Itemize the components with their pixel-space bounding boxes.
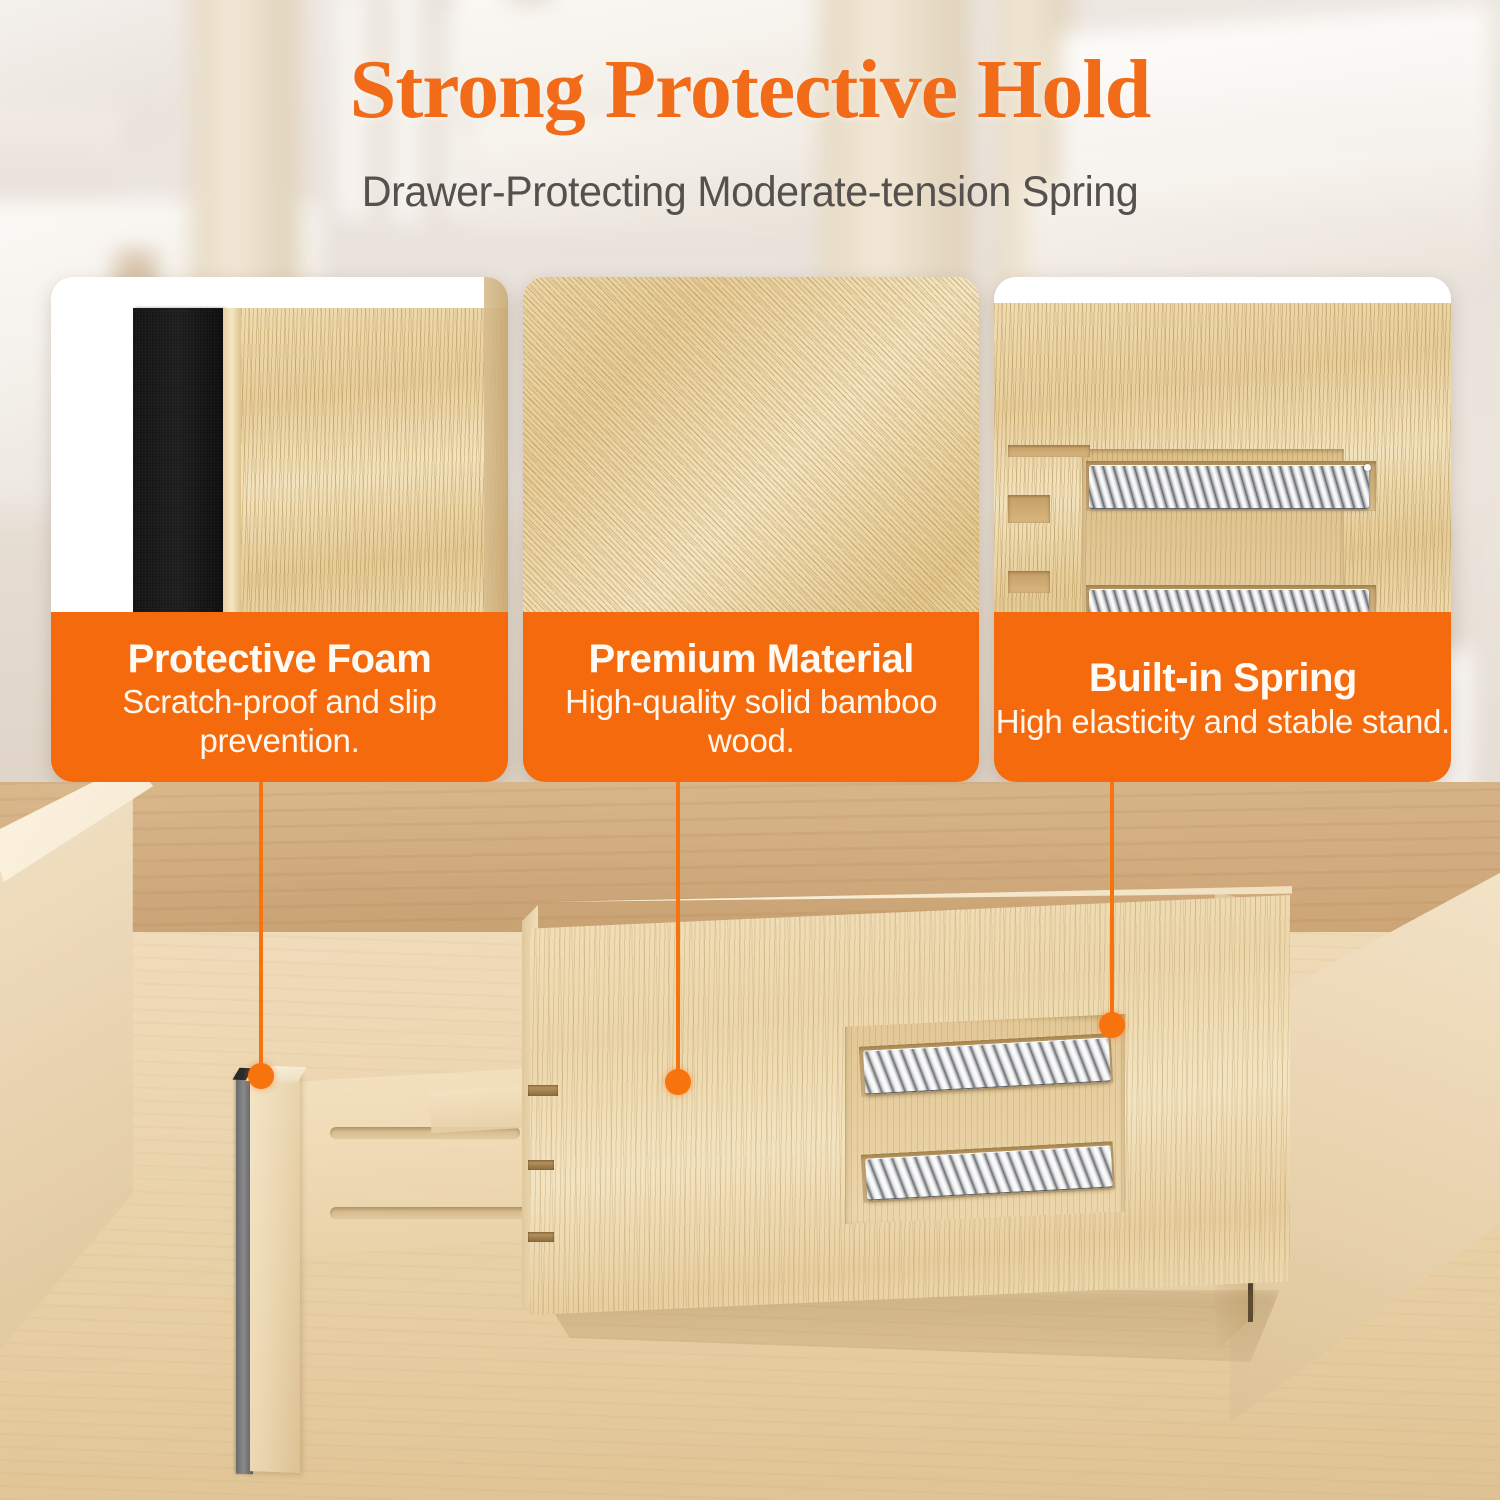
bamboo-grain-horizontal bbox=[241, 308, 508, 621]
card-title: Built-in Spring bbox=[1089, 657, 1357, 699]
product-infographic: Strong Protective Hold Drawer-Protecting… bbox=[0, 0, 1500, 1500]
board-right-shadow bbox=[484, 277, 508, 622]
bamboo-grain-diagonal bbox=[523, 277, 980, 622]
card-caption-built-in-spring: Built-in Spring High elasticity and stab… bbox=[994, 612, 1451, 782]
divider-joint-notch-mid bbox=[528, 1160, 554, 1170]
card-title: Premium Material bbox=[588, 638, 913, 680]
joint-notch-upper bbox=[1008, 445, 1090, 457]
bamboo-board-closeup bbox=[241, 308, 508, 621]
callout-line-protective-foam bbox=[259, 782, 263, 1076]
extension-arm-slot-lower bbox=[330, 1207, 530, 1219]
card-description: Scratch-proof and slip prevention. bbox=[51, 683, 508, 760]
joint-notch-lower bbox=[1008, 571, 1050, 593]
bamboo-panel-closeup bbox=[994, 303, 1451, 622]
feature-card-row: Protective Foam Scratch-proof and slip p… bbox=[51, 277, 1451, 782]
end-cap-wood-block bbox=[250, 1071, 300, 1473]
callout-dot-built-in-spring bbox=[1099, 1012, 1125, 1038]
card-photo-protective-foam bbox=[51, 277, 508, 622]
towel-fold-line-3 bbox=[1045, 222, 1465, 223]
feature-card-built-in-spring[interactable]: Built-in Spring High elasticity and stab… bbox=[994, 277, 1451, 782]
card-caption-premium-material: Premium Material High-quality solid bamb… bbox=[523, 612, 980, 782]
card-photo-premium-material bbox=[523, 277, 980, 622]
page-subheadline: Drawer-Protecting Moderate-tension Sprin… bbox=[30, 168, 1470, 217]
joint-notch-mid bbox=[1008, 495, 1050, 523]
divider-joint-notch-upper bbox=[528, 1085, 558, 1096]
bamboo-edge-strip bbox=[223, 308, 241, 621]
card-caption-protective-foam: Protective Foam Scratch-proof and slip p… bbox=[51, 612, 508, 782]
callout-line-built-in-spring bbox=[1110, 782, 1114, 1025]
card-description: High-quality solid bamboo wood. bbox=[523, 683, 980, 760]
coil-spring-upper bbox=[1089, 465, 1369, 509]
divider-joint-notch-lower bbox=[528, 1232, 554, 1242]
card-photo-built-in-spring bbox=[994, 277, 1451, 622]
card-title: Protective Foam bbox=[128, 638, 432, 680]
foam-strip-closeup bbox=[133, 308, 223, 621]
callout-dot-protective-foam bbox=[248, 1063, 274, 1089]
page-headline: Strong Protective Hold bbox=[0, 48, 1500, 132]
towel-fold-line-2 bbox=[1065, 138, 1470, 139]
callout-dot-premium-material bbox=[665, 1069, 691, 1095]
feature-card-premium-material[interactable]: Premium Material High-quality solid bamb… bbox=[523, 277, 980, 782]
card-description: High elasticity and stable stand. bbox=[996, 703, 1450, 741]
feature-card-protective-foam[interactable]: Protective Foam Scratch-proof and slip p… bbox=[51, 277, 508, 782]
callout-line-premium-material bbox=[676, 782, 680, 1082]
